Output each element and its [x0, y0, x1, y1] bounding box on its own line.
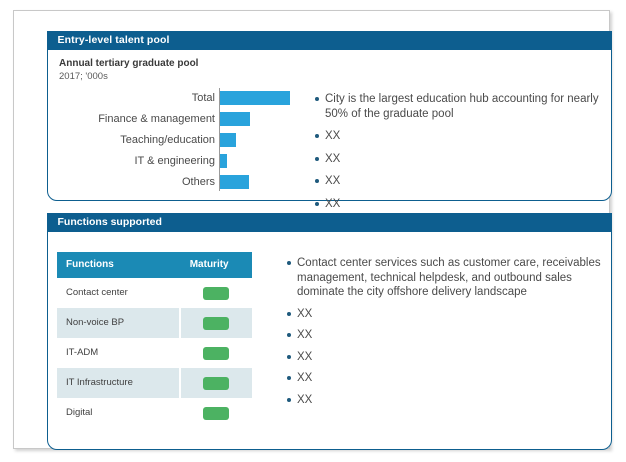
bar-row: Teaching/education: [59, 130, 299, 151]
cell-function-name: Digital: [57, 398, 179, 428]
bar-label: Others: [182, 172, 215, 193]
bar-label: Total: [192, 88, 215, 109]
panel1-bullet-list: City is the largest education hub accoun…: [314, 92, 604, 219]
column-header-functions: Functions: [57, 252, 179, 278]
bar-row: Others: [59, 172, 299, 193]
table-row: Non-voice BP: [57, 308, 252, 338]
chart-subtitle: 2017; '000s: [59, 71, 108, 82]
cell-maturity: [181, 398, 252, 428]
list-item: XX: [286, 328, 606, 343]
bar-label: Teaching/education: [120, 130, 215, 151]
list-item: XX: [286, 371, 606, 386]
table-row: IT-ADM: [57, 338, 252, 368]
bar-finance-management: [220, 112, 250, 126]
cell-maturity: [181, 278, 252, 308]
bar-row: Finance & management: [59, 109, 299, 130]
panel2-bullet-list: Contact center services such as customer…: [286, 256, 606, 414]
graduate-pool-bar-chart: Total Finance & management Teaching/educ…: [59, 88, 299, 193]
cell-function-name: Contact center: [57, 278, 179, 308]
bar-row: Total: [59, 88, 299, 109]
bar-row: IT & engineering: [59, 151, 299, 172]
maturity-pill-icon: [203, 287, 229, 300]
maturity-pill-icon: [203, 347, 229, 360]
cell-function-name: IT Infrastructure: [57, 368, 179, 398]
cell-maturity: [181, 308, 252, 338]
list-item: XX: [314, 197, 604, 212]
panel-entry-level-talent-pool: Entry-level talent pool Annual tertiary …: [47, 31, 612, 201]
panel1-header-title: Entry-level talent pool: [47, 31, 612, 50]
list-item: XX: [314, 174, 604, 189]
bar-teaching-education: [220, 133, 236, 147]
bar-label: Finance & management: [98, 109, 215, 130]
list-item: XX: [286, 350, 606, 365]
list-item: XX: [286, 307, 606, 322]
table-row: Contact center: [57, 278, 252, 308]
maturity-pill-icon: [203, 377, 229, 390]
list-item: Contact center services such as customer…: [286, 256, 606, 300]
bar-label: IT & engineering: [134, 151, 215, 172]
bar-total: [220, 91, 290, 105]
slide-frame: Entry-level talent pool Annual tertiary …: [13, 10, 610, 449]
chart-title: Annual tertiary graduate pool: [59, 58, 198, 69]
table-row: IT Infrastructure: [57, 368, 252, 398]
cell-function-name: Non-voice BP: [57, 308, 179, 338]
maturity-pill-icon: [203, 317, 229, 330]
cell-maturity: [181, 338, 252, 368]
functions-maturity-table: Functions Maturity Contact center Non-vo…: [57, 252, 252, 428]
column-header-maturity: Maturity: [181, 252, 252, 278]
list-item: XX: [314, 152, 604, 167]
list-item: XX: [286, 393, 606, 408]
panel-functions-supported: Functions supported Functions Maturity C…: [47, 213, 612, 450]
bar-others: [220, 175, 249, 189]
bar-it-engineering: [220, 154, 227, 168]
list-item: XX: [314, 129, 604, 144]
table-header-row: Functions Maturity: [57, 252, 252, 278]
cell-maturity: [181, 368, 252, 398]
maturity-pill-icon: [203, 407, 229, 420]
panel2-header-title: Functions supported: [47, 213, 612, 232]
list-item: City is the largest education hub accoun…: [314, 92, 604, 121]
table-row: Digital: [57, 398, 252, 428]
cell-function-name: IT-ADM: [57, 338, 179, 368]
